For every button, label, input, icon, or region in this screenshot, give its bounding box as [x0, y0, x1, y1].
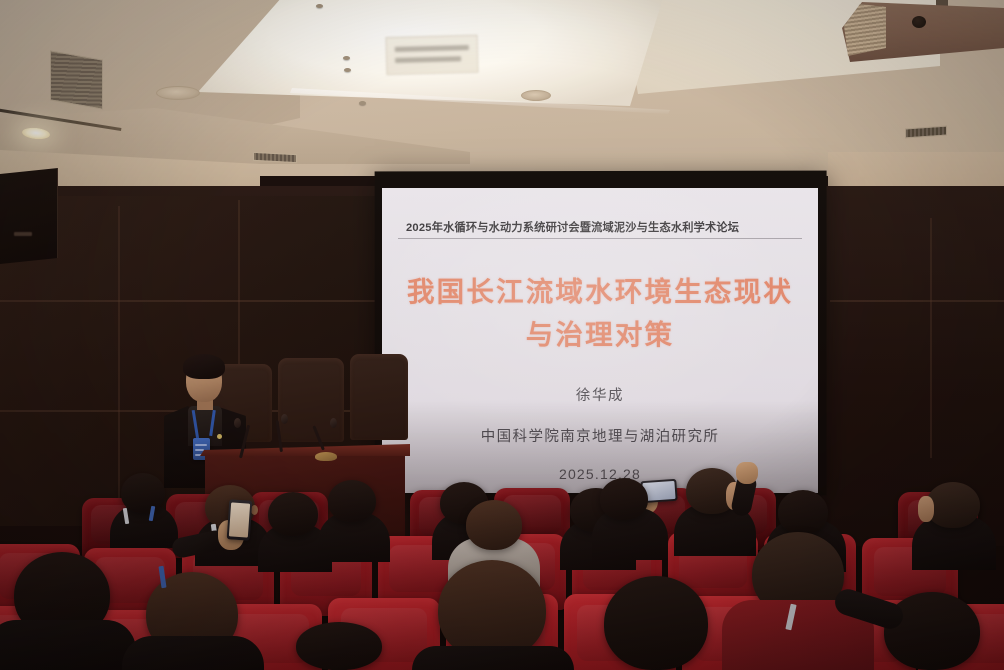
audience-head: [604, 576, 708, 670]
sprinkler-icon: [344, 68, 351, 72]
wall-panel-seam: [930, 218, 932, 458]
wall-panel-seam: [830, 300, 1004, 302]
presenter-hair: [183, 354, 225, 379]
audience-member: [0, 620, 136, 670]
wall-speaker: [0, 168, 58, 264]
sprinkler-icon: [343, 56, 350, 60]
mobile-phone: [227, 499, 253, 541]
slide-header: 2025年水循环与水动力系统研讨会暨流域泥沙与生态水利学术论坛: [382, 218, 818, 236]
wall-panel-seam: [118, 206, 120, 506]
lapel-pin-icon: [217, 434, 222, 439]
audience-head: [466, 500, 522, 550]
projector-lens-icon: [912, 16, 926, 28]
slide-header-text: 2025年水循环与水动力系统研讨会暨流域泥沙与生态水利学术论坛: [406, 222, 739, 234]
slide-divider: [398, 238, 802, 239]
audience-head: [296, 622, 382, 670]
audience-head: [884, 592, 980, 670]
audience-head: [778, 490, 828, 534]
hanging-sign: [386, 35, 479, 75]
conference-hall-photo: 2025年水循环与水动力系统研讨会暨流域泥沙与生态水利学术论坛 我国长江流域水环…: [0, 0, 1004, 670]
audience-head: [268, 492, 318, 536]
air-vent-icon: [50, 50, 103, 109]
audience-head: [438, 560, 546, 660]
face-profile: [918, 496, 934, 522]
microphone-icon: [234, 418, 241, 428]
slide-title-line2: 与治理对策: [382, 313, 818, 356]
audience-member: [412, 646, 574, 670]
ear: [251, 505, 258, 515]
projection-screen: 2025年水循环与水动力系统研讨会暨流域泥沙与生态水利学术论坛 我国长江流域水环…: [382, 188, 818, 493]
slide-title-line1: 我国长江流域水环境生态现状: [382, 270, 818, 313]
ceiling-diffuser: [521, 90, 551, 101]
slide-organization: 中国科学院南京地理与湖泊研究所: [382, 425, 818, 446]
microphone-icon: [330, 418, 337, 428]
microphone-base: [315, 452, 337, 461]
hand: [736, 462, 758, 484]
ceiling-diffuser: [156, 86, 200, 100]
audience-head: [328, 480, 376, 522]
sprinkler-icon: [316, 4, 323, 8]
wall-panel-seam: [0, 300, 378, 302]
audience-head: [600, 478, 648, 520]
stage-chair: [350, 354, 408, 440]
sprinkler-icon: [359, 101, 366, 105]
slide-title-block: 我国长江流域水环境生态现状 与治理对策: [382, 270, 818, 357]
microphone-icon: [281, 414, 288, 424]
slide-author: 徐华成: [382, 384, 818, 405]
audience-head: [926, 482, 980, 528]
audience-member: [122, 636, 264, 670]
audience-head: [121, 473, 165, 513]
stage-chair: [278, 358, 344, 442]
wall-speaker-label: [14, 232, 32, 236]
